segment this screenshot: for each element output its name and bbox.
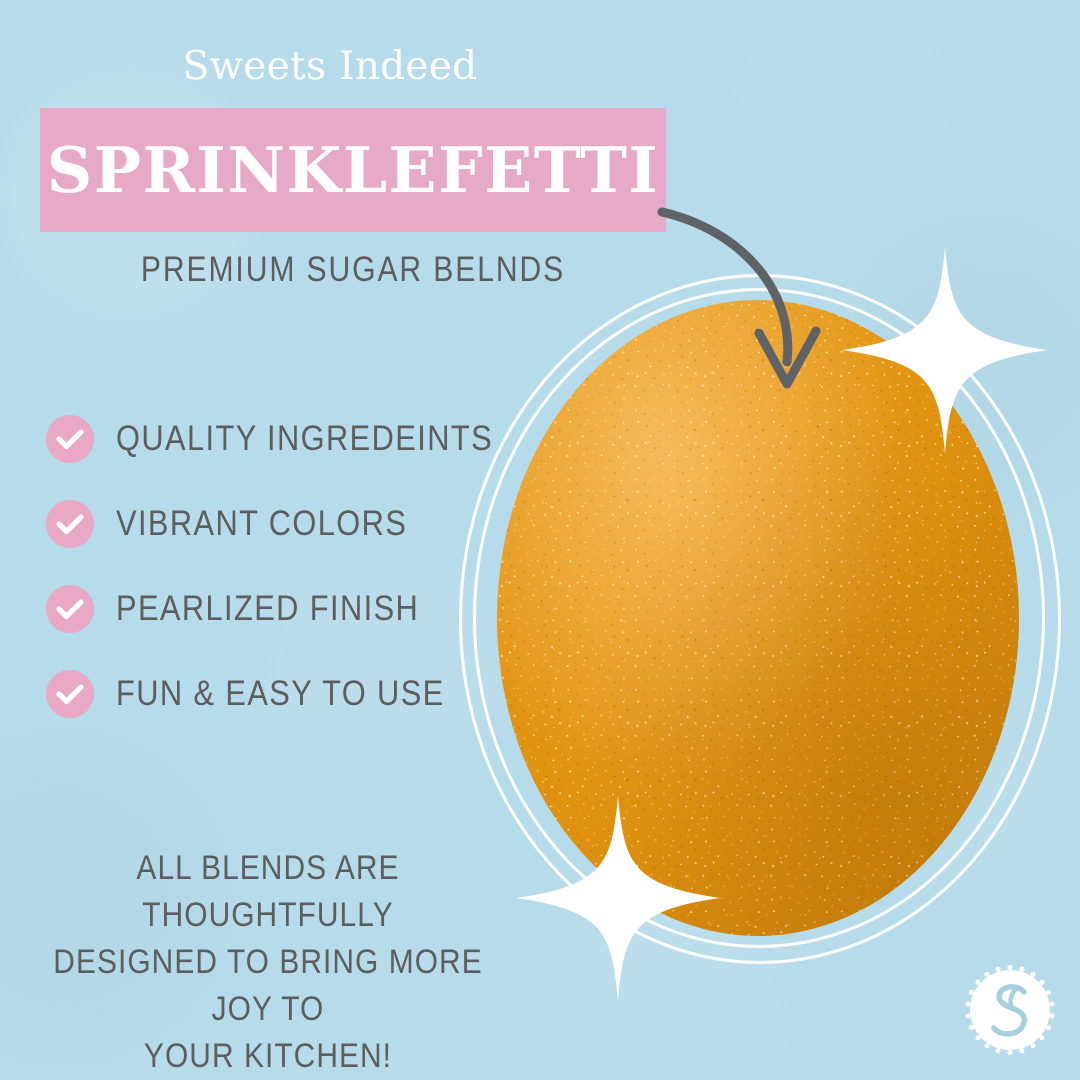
brand-name: Sweets Indeed bbox=[0, 44, 1080, 89]
feature-item: FUN & EASY TO USE bbox=[46, 651, 544, 736]
feature-label: VIBRANT COLORS bbox=[116, 504, 407, 544]
feature-label: FUN & EASY TO USE bbox=[116, 674, 445, 714]
feature-label: PEARLIZED FINISH bbox=[116, 589, 419, 629]
feature-item: PEARLIZED FINISH bbox=[46, 566, 544, 651]
feature-item: VIBRANT COLORS bbox=[46, 481, 544, 566]
feature-label: QUALITY INGREDEINTS bbox=[116, 419, 493, 459]
feature-list: QUALITY INGREDEINTS VIBRANT COLORS PEARL… bbox=[46, 396, 544, 736]
product-title: SPRINKLEFETTI bbox=[47, 133, 660, 207]
check-icon bbox=[46, 670, 94, 718]
sparkle-bottom-left-icon bbox=[512, 792, 724, 1004]
sweets-indeed-logo bbox=[962, 962, 1058, 1058]
check-icon bbox=[46, 500, 94, 548]
check-icon bbox=[46, 415, 94, 463]
tagline: ALL BLENDS ARE THOUGHTFULLY DESIGNED TO … bbox=[18, 845, 518, 1080]
tagline-line-3: YOUR KITCHEN! bbox=[48, 1033, 488, 1080]
tagline-line-1: ALL BLENDS ARE THOUGHTFULLY bbox=[48, 845, 488, 939]
product-infographic: Sweets Indeed SPRINKLEFETTI PREMIUM SUGA… bbox=[0, 0, 1080, 1080]
subtitle: PREMIUM SUGAR BELNDS bbox=[84, 250, 622, 290]
title-banner: SPRINKLEFETTI bbox=[40, 108, 666, 232]
tagline-line-2: DESIGNED TO BRING MORE JOY TO bbox=[48, 939, 488, 1033]
feature-item: QUALITY INGREDEINTS bbox=[46, 396, 544, 481]
check-icon bbox=[46, 585, 94, 633]
arrow-pointing-to-product-icon bbox=[620, 190, 880, 420]
